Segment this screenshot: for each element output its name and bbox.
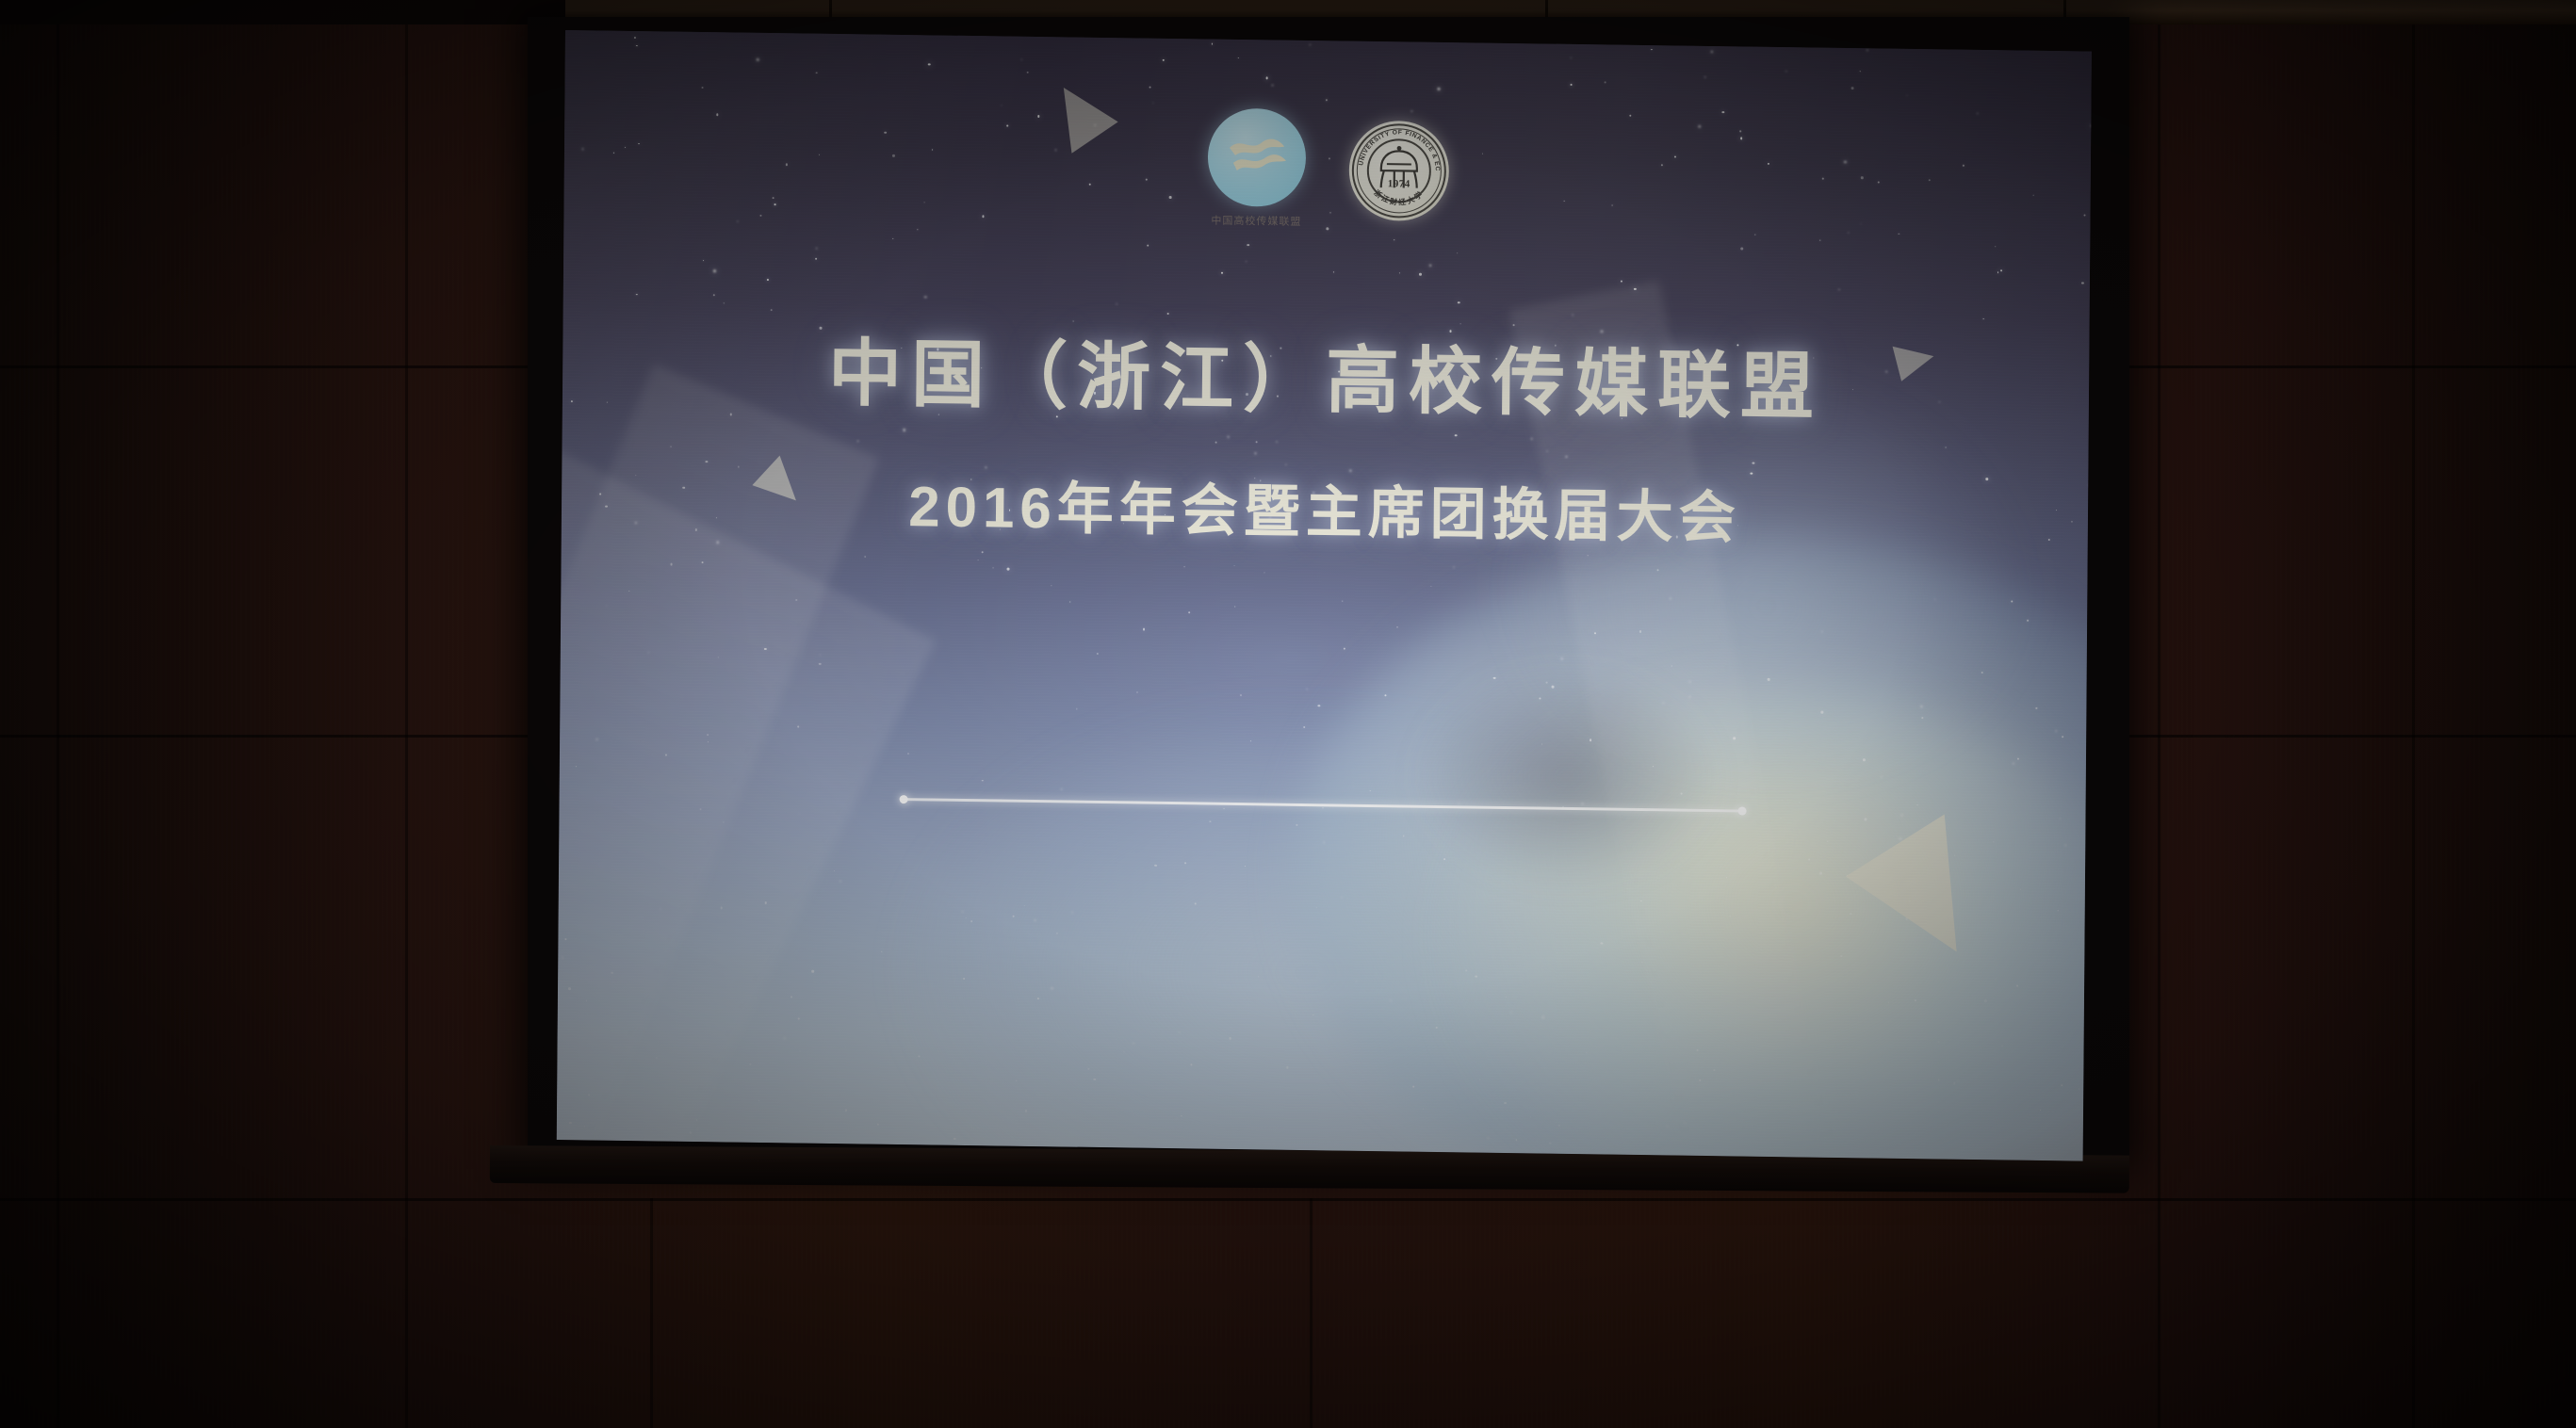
conference-hall-photo: 中国高校传媒联盟 ZHEJIANG UNIVERSITY OF FINANCE … [0, 0, 2576, 1428]
photo-vignette [0, 0, 2576, 1428]
